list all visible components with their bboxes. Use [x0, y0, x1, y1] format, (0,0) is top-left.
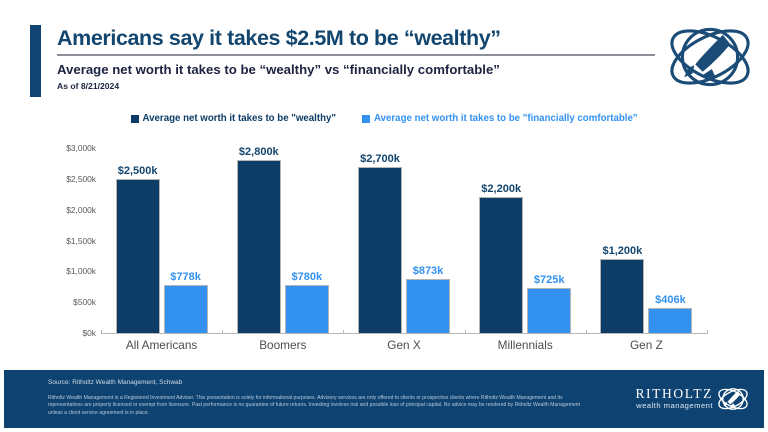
bar-value-label: $2,700k: [360, 153, 400, 165]
x-axis-tick: [222, 330, 223, 334]
bar[interactable]: $2,800k: [237, 160, 281, 333]
bar-group: $2,200k$725k: [479, 148, 571, 333]
bar-group: $2,500k$778k: [116, 148, 208, 333]
y-axis-tick-label: $1,500k: [44, 236, 96, 246]
bar-value-label: $1,200k: [603, 245, 643, 257]
bar-group: $2,800k$780k: [237, 148, 329, 333]
page-title: Americans say it takes $2.5M to be “weal…: [57, 25, 657, 51]
y-axis-tick-label: $0k: [44, 328, 96, 338]
x-axis-tick: [101, 330, 102, 334]
header: Americans say it takes $2.5M to be “weal…: [0, 0, 768, 106]
x-axis-tick: [465, 330, 466, 334]
x-axis-line: [101, 333, 707, 334]
legend-item-financially-comfortable[interactable]: Average net worth it takes to be "financ…: [362, 113, 637, 124]
legend-swatch-icon: [362, 115, 370, 123]
bar-value-label: $2,200k: [481, 183, 521, 195]
bar[interactable]: $2,700k: [358, 167, 402, 334]
header-accent-bar: [30, 25, 41, 97]
bar-group: $1,200k$406k: [600, 148, 692, 333]
legend-item-wealthy[interactable]: Average net worth it takes to be "wealth…: [131, 113, 336, 124]
y-axis-tick-label: $2,000k: [44, 205, 96, 215]
bar-value-label: $725k: [534, 274, 565, 286]
title-divider: [57, 54, 655, 56]
ritholtz-orbital-rocket-icon: [664, 22, 756, 92]
x-axis-tick: [343, 330, 344, 334]
x-axis-category-label: Gen Z: [630, 338, 663, 352]
y-axis-tick-label: $3,000k: [44, 143, 96, 153]
x-axis-category-labels: All AmericansBoomersGen XMillennialsGen …: [101, 338, 707, 358]
x-axis-category-label: Boomers: [259, 338, 306, 352]
x-axis-tick: [586, 330, 587, 334]
bar[interactable]: $1,200k: [600, 259, 644, 333]
x-axis-category-label: Millennials: [498, 338, 553, 352]
x-axis-category-label: All Americans: [126, 338, 197, 352]
bar[interactable]: $778k: [164, 285, 208, 333]
x-axis-tick: [707, 330, 708, 334]
bar[interactable]: $406k: [648, 308, 692, 333]
y-axis-tick-label: $1,000k: [44, 266, 96, 276]
footer-logo: RITHOLTZ wealth management: [635, 384, 750, 414]
bar-value-label: $780k: [292, 271, 323, 283]
footer-logo-tagline: wealth management: [635, 401, 713, 411]
y-axis: $0k$500k$1,000k$1,500k$2,000k$2,500k$3,0…: [44, 148, 96, 333]
footer: Source: Ritholtz Wealth Management, Schw…: [4, 370, 764, 428]
as-of-date: As of 8/21/2024: [57, 80, 657, 92]
bar-value-label: $2,500k: [118, 165, 158, 177]
legend-item-label: Average net worth it takes to be "wealth…: [143, 113, 336, 124]
source-text: Source: Ritholtz Wealth Management, Schw…: [48, 379, 182, 386]
disclaimer-text: Ritholtz Wealth Management is a Register…: [48, 395, 593, 417]
ritholtz-orbital-rocket-icon: [716, 384, 750, 414]
legend-swatch-icon: [131, 115, 139, 123]
y-axis-tick-label: $2,500k: [44, 174, 96, 184]
bar-value-label: $406k: [655, 294, 686, 306]
bar[interactable]: $725k: [527, 288, 571, 333]
chart-legend: Average net worth it takes to be "wealth…: [0, 113, 768, 124]
bar[interactable]: $873k: [406, 279, 450, 333]
page-subtitle: Average net worth it takes to be “wealth…: [57, 61, 657, 79]
footer-logo-text: RITHOLTZ wealth management: [635, 387, 713, 411]
bar-value-label: $778k: [170, 271, 201, 283]
legend-item-label: Average net worth it takes to be "financ…: [374, 113, 637, 124]
bar[interactable]: $2,500k: [116, 179, 160, 333]
bar-value-label: $2,800k: [239, 146, 279, 158]
x-axis-category-label: Gen X: [387, 338, 420, 352]
bar-group: $2,700k$873k: [358, 148, 450, 333]
footer-logo-name: RITHOLTZ: [635, 387, 713, 401]
y-axis-tick-label: $500k: [44, 297, 96, 307]
plot-area: $2,500k$778k$2,800k$780k$2,700k$873k$2,2…: [101, 148, 707, 333]
bar-chart: $0k$500k$1,000k$1,500k$2,000k$2,500k$3,0…: [0, 142, 768, 370]
bar[interactable]: $2,200k: [479, 197, 523, 333]
title-block: Americans say it takes $2.5M to be “weal…: [57, 25, 657, 92]
bar[interactable]: $780k: [285, 285, 329, 333]
bar-value-label: $873k: [413, 265, 444, 277]
